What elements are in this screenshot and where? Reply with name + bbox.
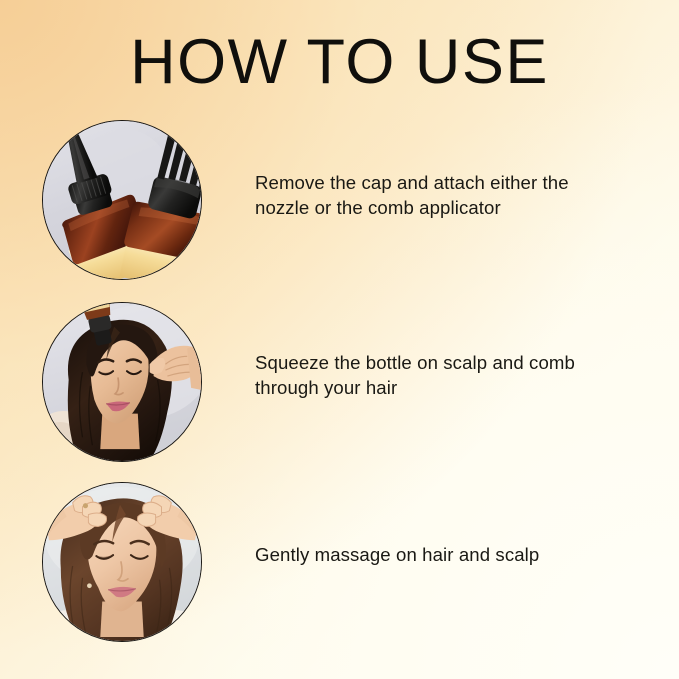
page-title: HOW TO USE [0, 27, 679, 97]
step-3-image-woman-massaging-scalp-with-hands [42, 482, 202, 642]
step-1: Remove the cap and attach either the noz… [0, 120, 679, 285]
step-3: Gently massage on hair and scalp [0, 482, 679, 647]
how-to-use-poster: HOW TO USE [0, 0, 679, 679]
step-1-image-bottles-with-nozzle-and-comb-applicator [42, 120, 202, 280]
step-1-text: Remove the cap and attach either the noz… [255, 170, 615, 220]
step-3-text: Gently massage on hair and scalp [255, 542, 615, 567]
step-2-image-woman-applying-product-to-scalp [42, 302, 202, 462]
step-2: Squeeze the bottle on scalp and comb thr… [0, 302, 679, 467]
step-2-text: Squeeze the bottle on scalp and comb thr… [255, 350, 615, 400]
